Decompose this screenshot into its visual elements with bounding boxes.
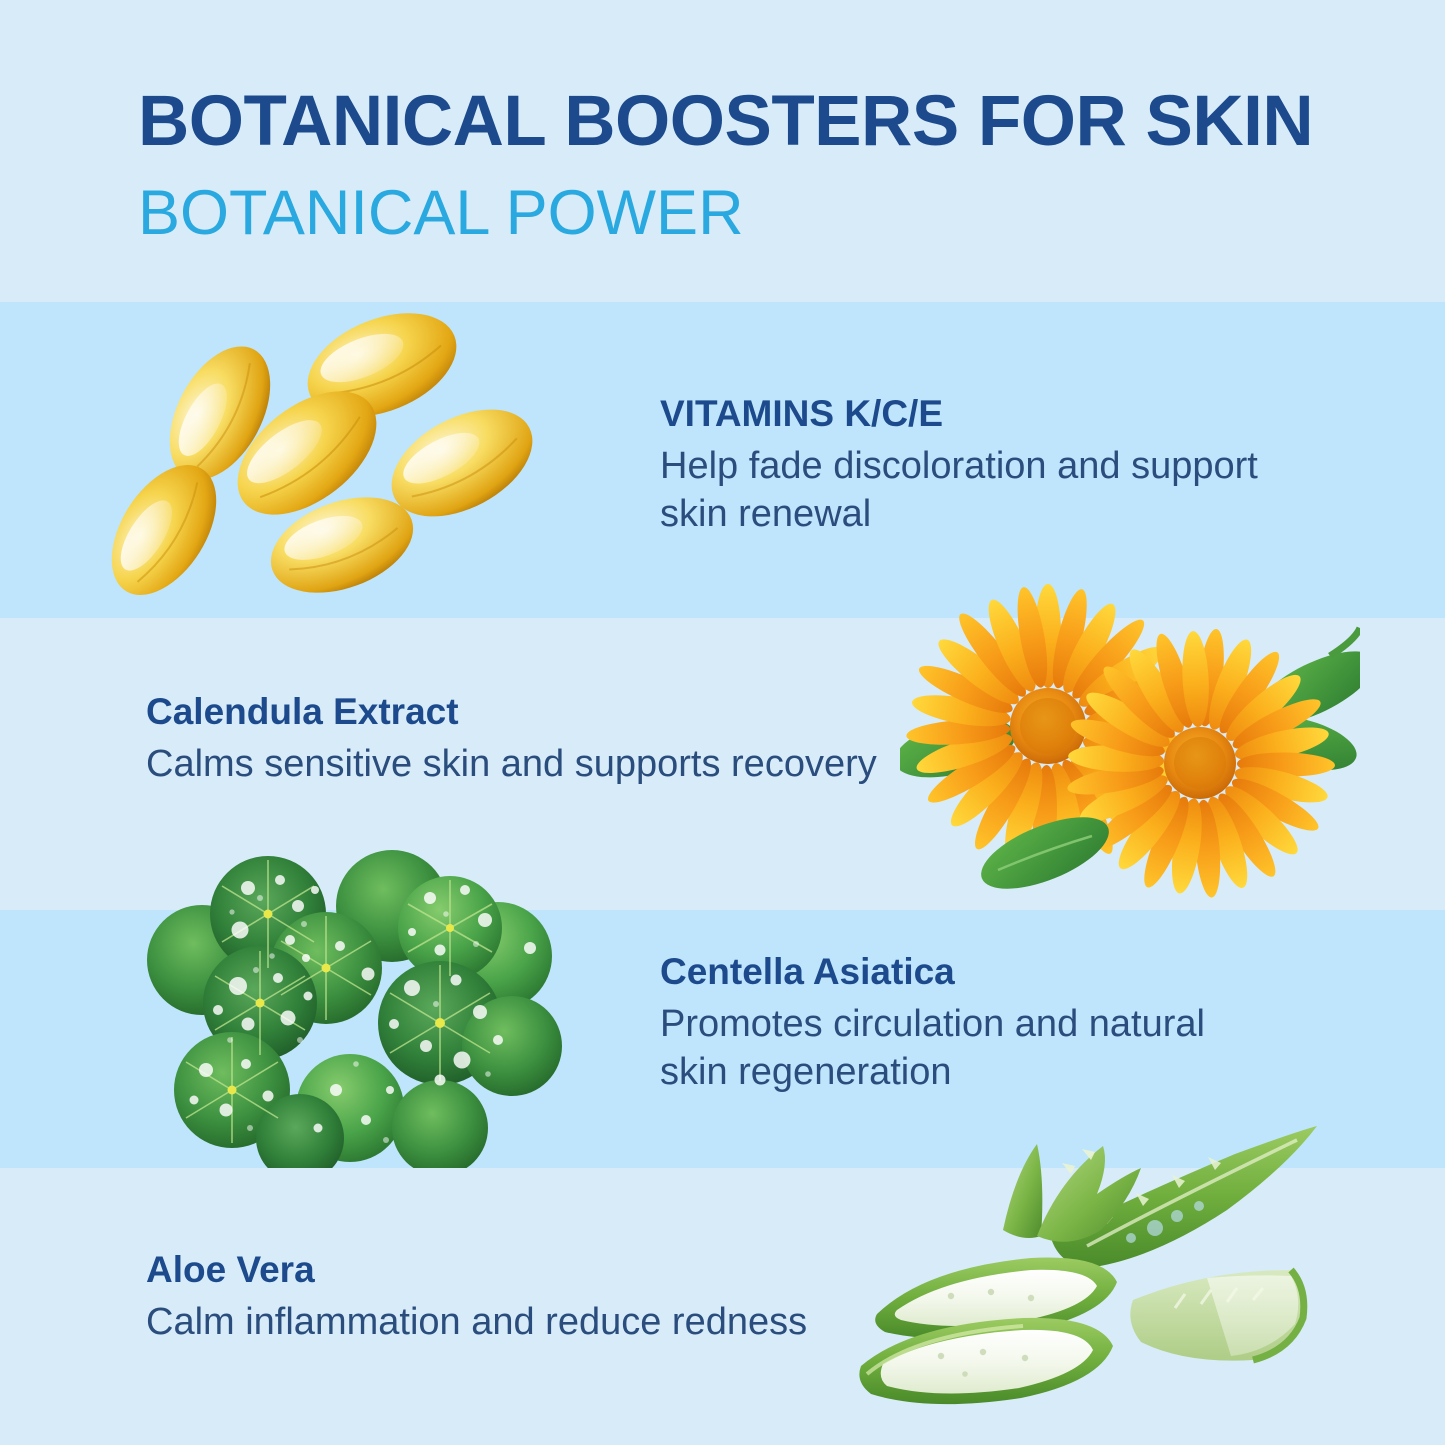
aloe-vera-image: [855, 1118, 1325, 1428]
ingredient-body-line: skin renewal: [660, 490, 1360, 539]
centella-leaves-image: [140, 828, 570, 1168]
ingredient-body-vitamins: Help fade discoloration and support skin…: [660, 442, 1360, 539]
ingredient-text-calendula: Calendula Extract Calms sensitive skin a…: [146, 690, 966, 788]
ingredient-body-calendula: Calms sensitive skin and supports recove…: [146, 740, 966, 789]
ingredient-body-line: Calm inflammation and reduce redness: [146, 1298, 906, 1347]
ingredient-text-centella: Centella Asiatica Promotes circulation a…: [660, 950, 1300, 1097]
page-subtitle: BOTANICAL POWER: [138, 179, 1338, 248]
ingredient-text-vitamins: VITAMINS K/C/E Help fade discoloration a…: [660, 392, 1360, 539]
ingredient-heading-calendula: Calendula Extract: [146, 690, 966, 734]
ingredient-heading-vitamins: VITAMINS K/C/E: [660, 392, 1360, 436]
calendula-flowers-image: [900, 558, 1360, 898]
ingredient-heading-aloe: Aloe Vera: [146, 1248, 906, 1292]
header: BOTANICAL BOOSTERS FOR SKIN BOTANICAL PO…: [138, 84, 1338, 249]
ingredient-body-centella: Promotes circulation and natural skin re…: [660, 1000, 1300, 1097]
ingredient-body-line: Calms sensitive skin and supports recove…: [146, 740, 966, 789]
ingredient-heading-centella: Centella Asiatica: [660, 950, 1300, 994]
ingredient-body-line: Help fade discoloration and support: [660, 442, 1360, 491]
ingredient-text-aloe: Aloe Vera Calm inflammation and reduce r…: [146, 1248, 906, 1346]
page-title: BOTANICAL BOOSTERS FOR SKIN: [138, 84, 1338, 159]
softgel-capsules-image: [92, 305, 602, 600]
ingredient-body-line: skin regeneration: [660, 1048, 1300, 1097]
infographic-poster: BOTANICAL BOOSTERS FOR SKIN BOTANICAL PO…: [0, 0, 1445, 1445]
ingredient-body-aloe: Calm inflammation and reduce redness: [146, 1298, 906, 1347]
ingredient-body-line: Promotes circulation and natural: [660, 1000, 1300, 1049]
